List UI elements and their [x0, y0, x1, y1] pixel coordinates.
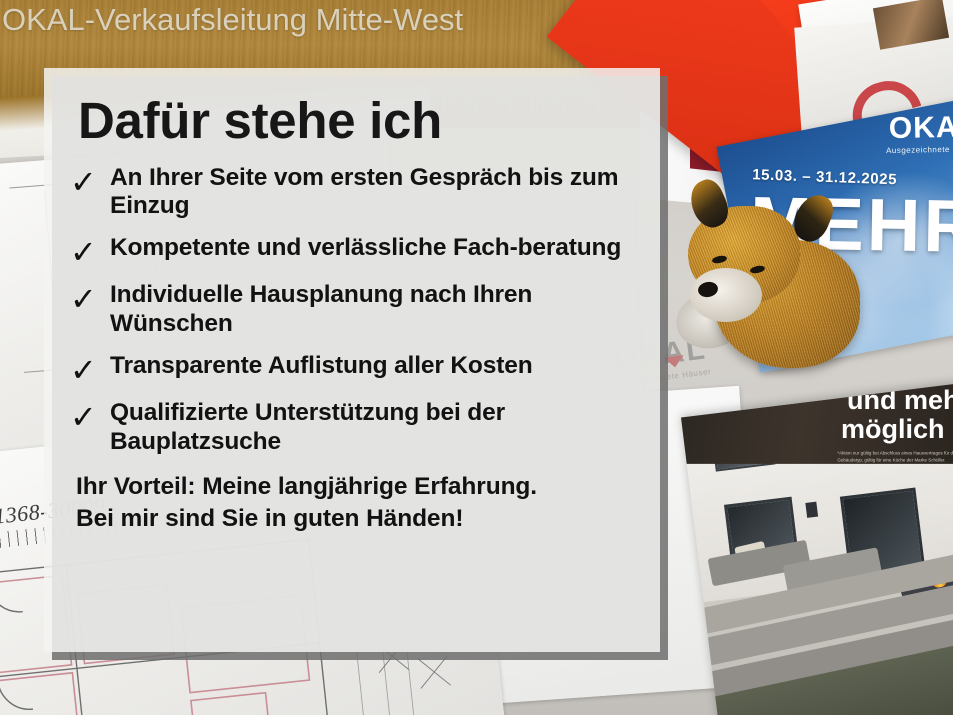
closing-line-2: Bei mir sind Sie in guten Händen! — [76, 503, 638, 535]
slide-root: 1368-30009 Diktat: Unterschrift Bauherri… — [0, 0, 953, 715]
house-photo-banner-text: 3 Wohnungen und mehr möglich — [847, 381, 953, 443]
benefits-checklist: ✓ An Ihrer Seite vom ersten Gespräch bis… — [70, 164, 638, 457]
list-item: ✓ Kompetente und verlässliche Fach-berat… — [70, 234, 638, 268]
closing-statement: Ihr Vorteil: Meine langjährige Erfahrung… — [76, 471, 638, 536]
list-item: ✓ Qualifizierte Unterstützung bei der Ba… — [70, 399, 638, 457]
list-item: ✓ Individuelle Hausplanung nach Ihren Wü… — [70, 281, 638, 339]
check-icon: ✓ — [70, 164, 110, 198]
banner-line-3: möglich — [841, 416, 953, 443]
house-photo-banner-fineprint: *Aktion nur gültig bei Abschluss eines H… — [837, 449, 953, 463]
panel-heading: Dafür stehe ich — [78, 94, 638, 148]
list-item-label: Transparente Auflistung aller Kosten — [110, 352, 533, 381]
list-item-label: An Ihrer Seite vom ersten Gespräch bis z… — [110, 164, 638, 222]
check-icon: ✓ — [70, 281, 110, 315]
list-item: ✓ An Ihrer Seite vom ersten Gespräch bis… — [70, 164, 638, 222]
list-item-label: Kompetente und verlässliche Fach-beratun… — [110, 234, 621, 263]
blue-brochure-logo: OKAL Ausgezeichnete Häuser — [885, 110, 953, 155]
fox-figurine — [686, 182, 862, 378]
list-item: ✓ Transparente Auflistung aller Kosten — [70, 352, 638, 386]
blue-brochure-logo-word: OKAL — [885, 110, 953, 146]
page-title: OKAL-Verkaufsleitung Mitte-West — [2, 2, 463, 38]
closing-line-1: Ihr Vorteil: Meine langjährige Erfahrung… — [76, 471, 638, 503]
check-icon: ✓ — [70, 352, 110, 386]
list-item-label: Individuelle Hausplanung nach Ihren Wüns… — [110, 281, 638, 339]
text-panel: Dafür stehe ich ✓ An Ihrer Seite vom ers… — [44, 68, 660, 652]
blue-brochure-logo-tagline: Ausgezeichnete Häuser — [886, 144, 953, 155]
list-item-label: Qualifizierte Unterstützung bei der Baup… — [110, 399, 638, 457]
house-photo-wall-lamp — [805, 502, 818, 518]
fox-eye-right — [749, 265, 765, 275]
banner-line-2: und mehr — [847, 387, 953, 414]
check-icon: ✓ — [70, 234, 110, 268]
check-icon: ✓ — [70, 399, 110, 433]
fox-eye-left — [711, 255, 727, 265]
house-photo-brochure: 3 Wohnungen und mehr möglich *Aktion nur… — [681, 381, 953, 715]
